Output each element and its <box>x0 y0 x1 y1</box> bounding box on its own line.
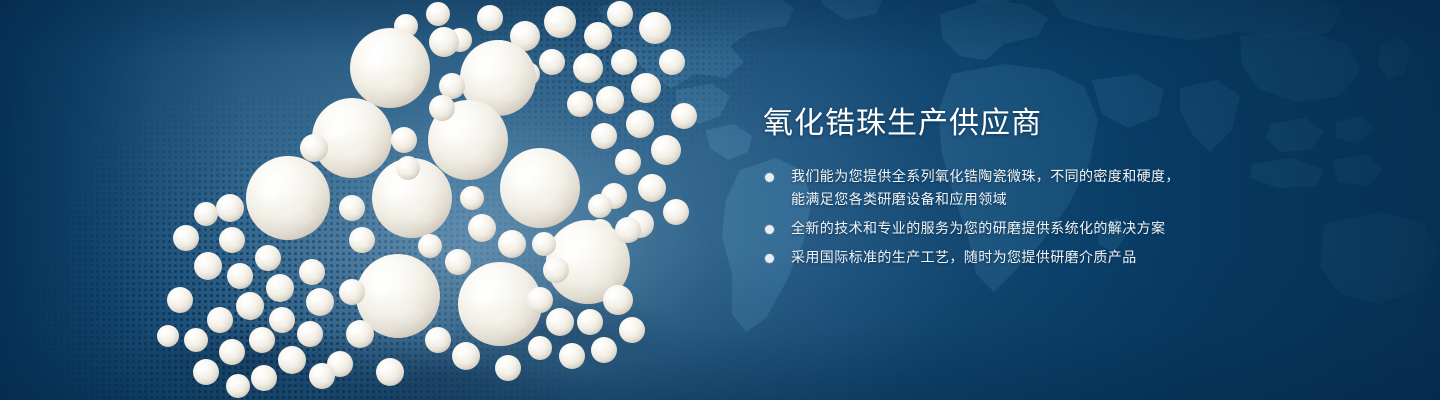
banner-copy: 氧化锆珠生产供应商 我们能为您提供全系列氧化锆陶瓷微珠，不同的密度和硬度， 能满… <box>763 104 1283 276</box>
list-item: 采用国际标准的生产工艺，随时为您提供研磨介质产品 <box>763 247 1283 270</box>
bullet-line: 能满足您各类研磨设备和应用领域 <box>791 189 1283 212</box>
bullet-line: 全新的技术和专业的服务为您的研磨提供系统化的解决方案 <box>791 218 1283 241</box>
bullet-dot-icon <box>765 225 774 234</box>
bullet-dot-icon <box>765 254 774 263</box>
list-item: 我们能为您提供全系列氧化锆陶瓷微珠，不同的密度和硬度， 能满足您各类研磨设备和应… <box>763 166 1283 212</box>
page-title: 氧化锆珠生产供应商 <box>763 104 1283 144</box>
hero-banner: 氧化锆珠生产供应商 我们能为您提供全系列氧化锆陶瓷微珠，不同的密度和硬度， 能满… <box>0 0 1440 400</box>
list-item: 全新的技术和专业的服务为您的研磨提供系统化的解决方案 <box>763 218 1283 241</box>
bullet-line: 我们能为您提供全系列氧化锆陶瓷微珠，不同的密度和硬度， <box>791 166 1283 189</box>
feature-list: 我们能为您提供全系列氧化锆陶瓷微珠，不同的密度和硬度， 能满足您各类研磨设备和应… <box>763 166 1283 270</box>
bullet-dot-icon <box>765 173 774 182</box>
bullet-line: 采用国际标准的生产工艺，随时为您提供研磨介质产品 <box>791 247 1283 270</box>
